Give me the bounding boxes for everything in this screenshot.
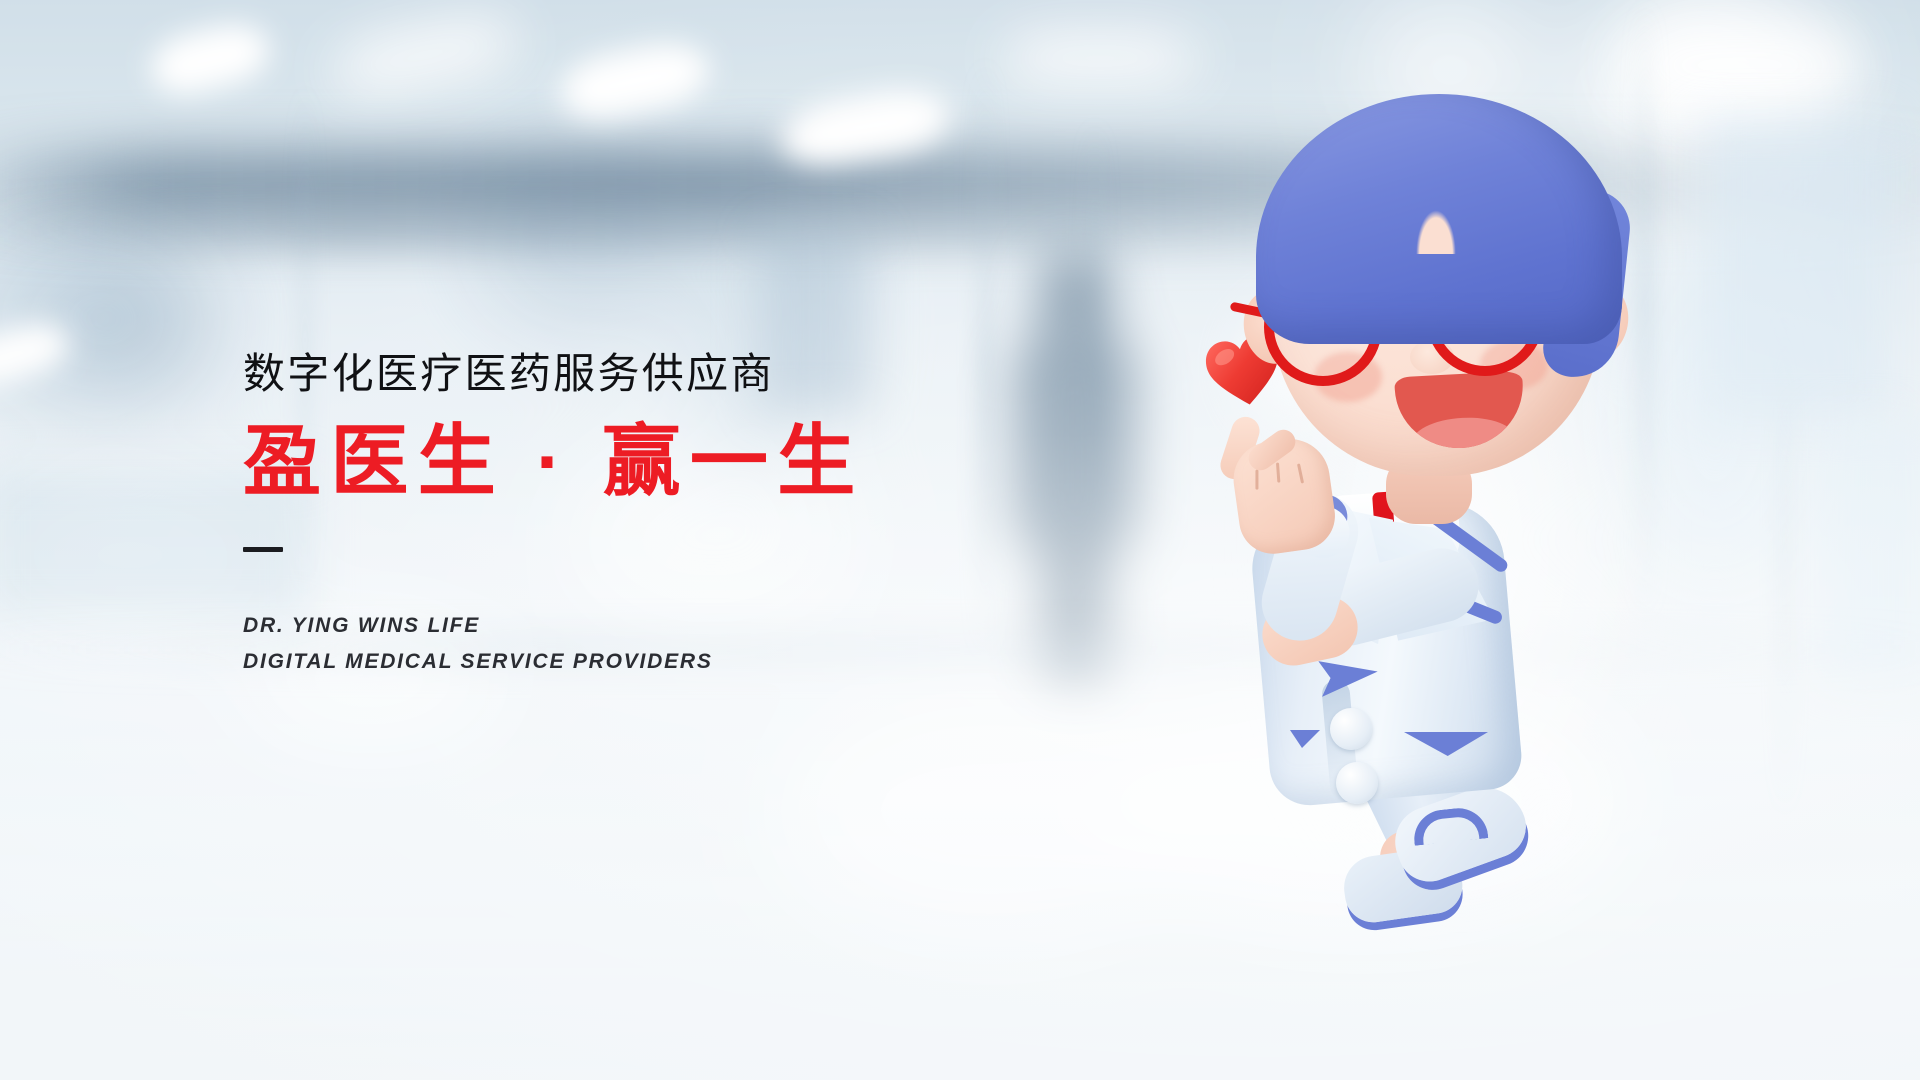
hero-headline: 盈医生 · 赢一生	[243, 420, 1003, 503]
hero-divider-rule	[243, 547, 283, 552]
knuckle-line	[1297, 463, 1304, 483]
coat-button	[1330, 708, 1372, 750]
smiling-mouth-icon	[1394, 371, 1526, 452]
coat-button	[1336, 762, 1378, 804]
knuckle-line	[1255, 470, 1258, 490]
knuckle-line	[1276, 463, 1280, 483]
hero-subtitle-line-2: DIGITAL MEDICAL SERVICE PROVIDERS	[243, 644, 1003, 680]
hero-kicker: 数字化医疗医药服务供应商	[243, 352, 1003, 396]
doctor-mascot-illustration	[1198, 40, 1698, 1050]
hero-copy: 数字化医疗医药服务供应商 盈医生 · 赢一生 DR. YING WINS LIF…	[243, 352, 1003, 680]
hair-forehead-notch	[1416, 210, 1456, 254]
hero-banner: 数字化医疗医药服务供应商 盈医生 · 赢一生 DR. YING WINS LIF…	[0, 0, 1920, 1080]
mouth-tongue	[1410, 415, 1516, 451]
hero-subtitles: DR. YING WINS LIFE DIGITAL MEDICAL SERVI…	[243, 608, 1003, 680]
hero-subtitle-line-1: DR. YING WINS LIFE	[243, 608, 1003, 644]
